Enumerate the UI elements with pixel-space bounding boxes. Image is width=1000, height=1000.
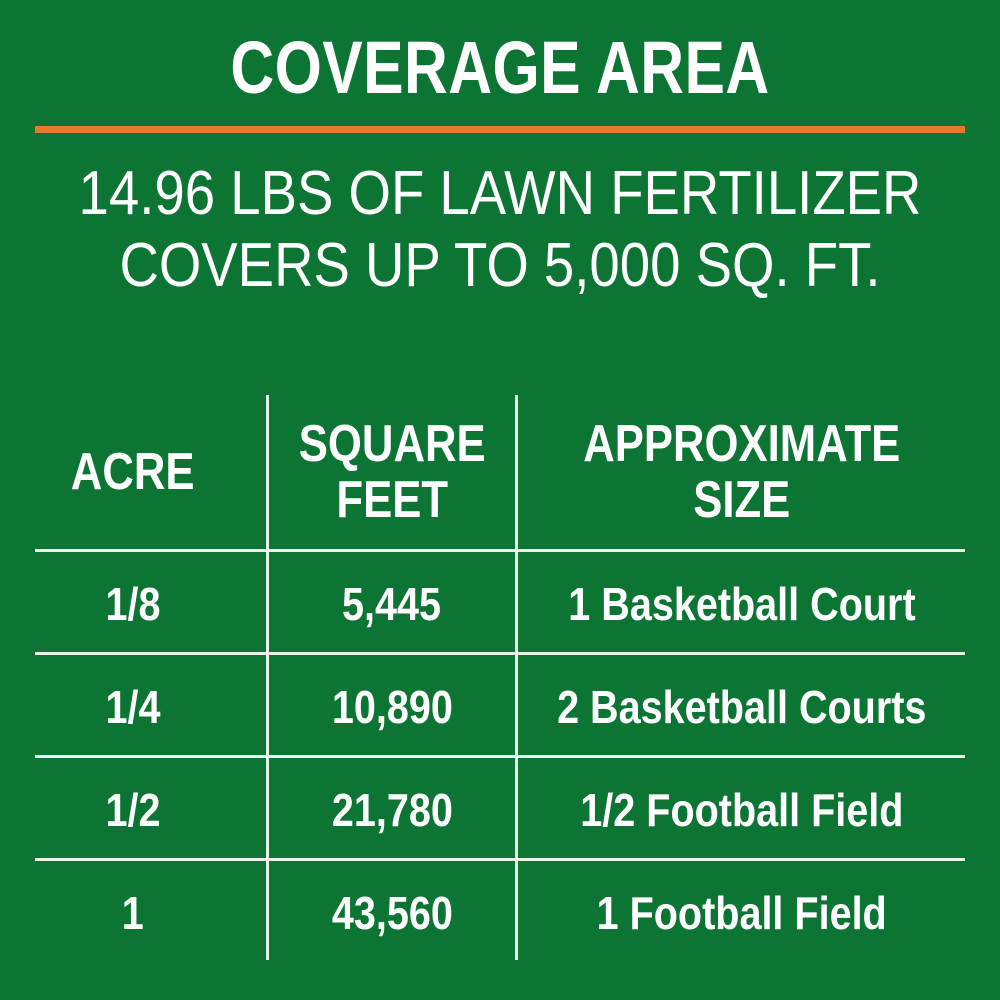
column-header-approximate-size-line-2: SIZE [583, 472, 900, 528]
cell-acre-value: 1/8 [105, 581, 160, 627]
cell-square-feet: 21,780 [269, 758, 515, 861]
cell-square-feet: 10,890 [269, 655, 515, 758]
cell-approximate-size: 1/2 Football Field [518, 758, 965, 861]
cell-approximate-size-value: 1/2 Football Field [580, 787, 903, 833]
column-header-square-feet-line-1: SQUARE [299, 416, 486, 472]
cell-acre: 1/8 [0, 552, 266, 655]
cell-approximate-size-value: 1 Basketball Court [568, 581, 915, 627]
cell-approximate-size: 1 Basketball Court [518, 552, 965, 655]
table-header-row: ACRE SQUARE FEET APPROXIMATE SIZE [0, 395, 1000, 549]
cell-approximate-size: 1 Football Field [518, 861, 965, 964]
table-row: 1/4 10,890 2 Basketball Courts [0, 655, 1000, 758]
cell-square-feet-value: 21,780 [331, 787, 452, 833]
coverage-area-panel: COVERAGE AREA 14.96 LBS OF LAWN FERTILIZ… [0, 0, 1000, 1000]
cell-acre: 1 [0, 861, 266, 964]
cell-acre-value: 1/4 [105, 684, 160, 730]
cell-acre-value: 1/2 [105, 787, 160, 833]
cell-approximate-size-value: 2 Basketball Courts [557, 684, 926, 730]
column-header-acre-label: ACRE [71, 446, 195, 498]
cell-approximate-size: 2 Basketball Courts [518, 655, 965, 758]
cell-square-feet-value: 10,890 [331, 684, 452, 730]
column-header-square-feet-line-2: FEET [299, 472, 486, 528]
cell-acre: 1/2 [0, 758, 266, 861]
column-header-approximate-size-line-1: APPROXIMATE [583, 416, 900, 472]
cell-acre: 1/4 [0, 655, 266, 758]
cell-square-feet: 5,445 [269, 552, 515, 655]
column-header-square-feet: SQUARE FEET [269, 395, 515, 549]
column-header-approximate-size: APPROXIMATE SIZE [518, 395, 965, 549]
table-row: 1/8 5,445 1 Basketball Court [0, 552, 1000, 655]
coverage-table: ACRE SQUARE FEET APPROXIMATE SIZE 1/8 5,… [0, 0, 1000, 1000]
column-header-acre: ACRE [0, 395, 266, 549]
table-row: 1/2 21,780 1/2 Football Field [0, 758, 1000, 861]
table-row: 1 43,560 1 Football Field [0, 861, 1000, 964]
cell-square-feet-value: 5,445 [342, 581, 441, 627]
cell-square-feet-value: 43,560 [331, 890, 452, 936]
cell-square-feet: 43,560 [269, 861, 515, 964]
cell-approximate-size-value: 1 Football Field [596, 890, 886, 936]
cell-acre-value: 1 [122, 890, 144, 936]
